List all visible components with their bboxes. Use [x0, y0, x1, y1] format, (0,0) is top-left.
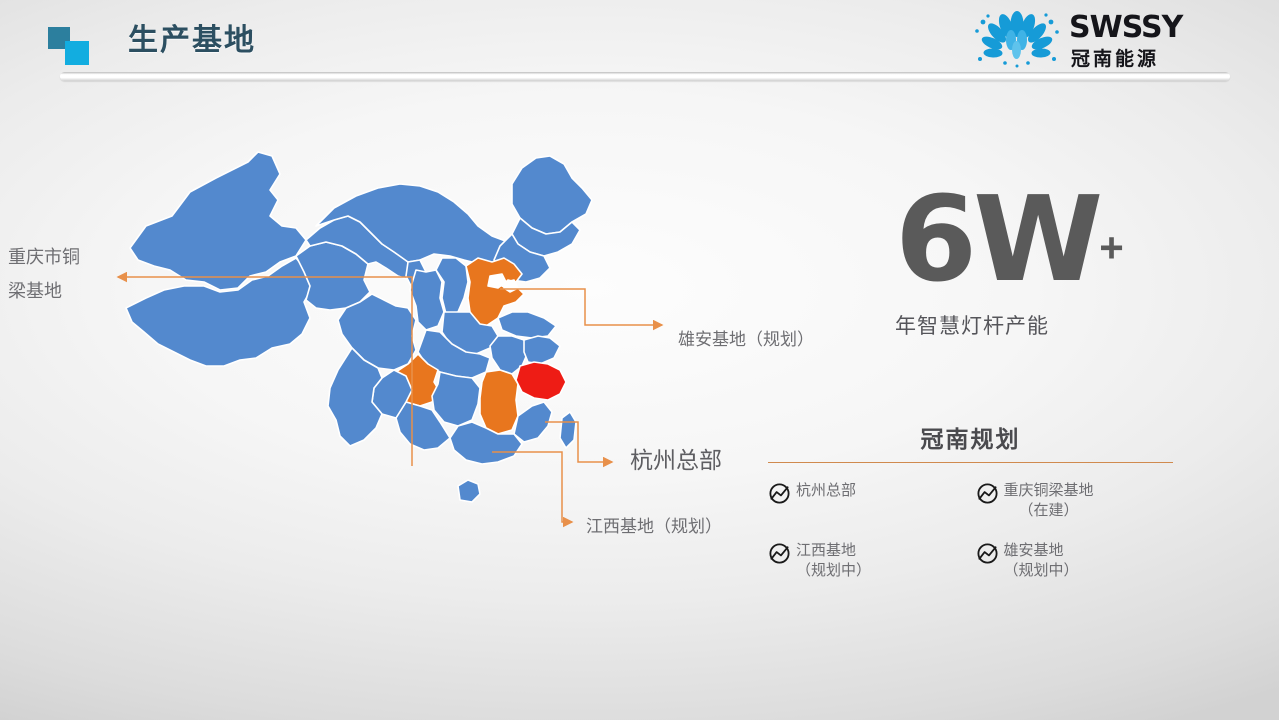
legend-item-text: 雄安基地 （规划中）: [1004, 541, 1079, 581]
legend-grid: 杭州总部 重庆铜梁基地 （在建）: [768, 481, 1173, 581]
header-divider: [60, 72, 1230, 81]
legend-divider: [768, 462, 1173, 463]
circle-wave-icon: [976, 542, 999, 565]
stat-caption: 年智慧灯杆产能: [895, 310, 1124, 340]
china-map: [120, 130, 600, 570]
legend-item-sub: （规划中）: [796, 561, 871, 581]
map-label-chongqing-line1: 重庆市铜: [8, 240, 80, 274]
map-label-hangzhou: 杭州总部: [630, 445, 722, 475]
water-droplet-burst-icon: [971, 10, 1063, 68]
map-label-chongqing: 重庆市铜 梁基地: [8, 240, 80, 308]
map-label-chongqing-line2: 梁基地: [8, 274, 80, 308]
province-hainan: [458, 480, 480, 502]
province-shandong: [498, 312, 556, 338]
legend-item-chongqing[interactable]: 重庆铜梁基地 （在建）: [976, 481, 1174, 521]
legend-item-text: 杭州总部: [796, 481, 856, 501]
page-title: 生产基地: [128, 26, 256, 56]
province-fujian: [514, 402, 552, 442]
province-jiangxi-highlight: [480, 370, 518, 434]
legend-panel: 冠南规划 杭州总部 重庆铜梁基地 （在: [768, 420, 1173, 581]
legend-item-label: 雄安基地: [1004, 542, 1064, 559]
map-label-jiangxi: 江西基地（规划）: [586, 512, 722, 542]
legend-item-text: 重庆铜梁基地 （在建）: [1004, 481, 1094, 521]
legend-item-sub: （规划中）: [1004, 561, 1079, 581]
stat-number: 6W: [895, 170, 1099, 308]
circle-wave-icon: [768, 482, 791, 505]
circle-wave-icon: [976, 482, 999, 505]
square-icon-light: [65, 41, 89, 65]
legend-item-jiangxi[interactable]: 江西基地 （规划中）: [768, 541, 966, 581]
stat-number-row: 6W+: [895, 185, 1124, 294]
province-taiwan: [560, 412, 576, 448]
legend-item-label: 江西基地: [796, 542, 856, 559]
legend-item-text: 江西基地 （规划中）: [796, 541, 871, 581]
province-jiangsu: [524, 336, 560, 364]
slide-root: 生产基地: [0, 0, 1279, 720]
legend-item-label: 重庆铜梁基地: [1004, 482, 1094, 499]
province-hunan: [432, 372, 480, 426]
legend-item-hangzhou[interactable]: 杭州总部: [768, 481, 966, 521]
legend-item-label: 杭州总部: [796, 482, 856, 499]
map-label-xiongan: 雄安基地（规划）: [678, 325, 814, 355]
logo: SWSSY 冠南能源: [971, 8, 1221, 70]
legend-title: 冠南规划: [768, 420, 1173, 454]
logo-chinese-name: 冠南能源: [1071, 44, 1159, 71]
circle-wave-icon: [768, 542, 791, 565]
legend-item-xiongan[interactable]: 雄安基地 （规划中）: [976, 541, 1174, 581]
province-zhejiang-highlight: [516, 362, 566, 400]
logo-wordmark: SWSSY: [1069, 10, 1182, 45]
capacity-stat: 6W+ 年智慧灯杆产能: [895, 185, 1124, 340]
stat-plus-sign: +: [1099, 224, 1124, 271]
legend-item-sub: （在建）: [1004, 501, 1094, 521]
